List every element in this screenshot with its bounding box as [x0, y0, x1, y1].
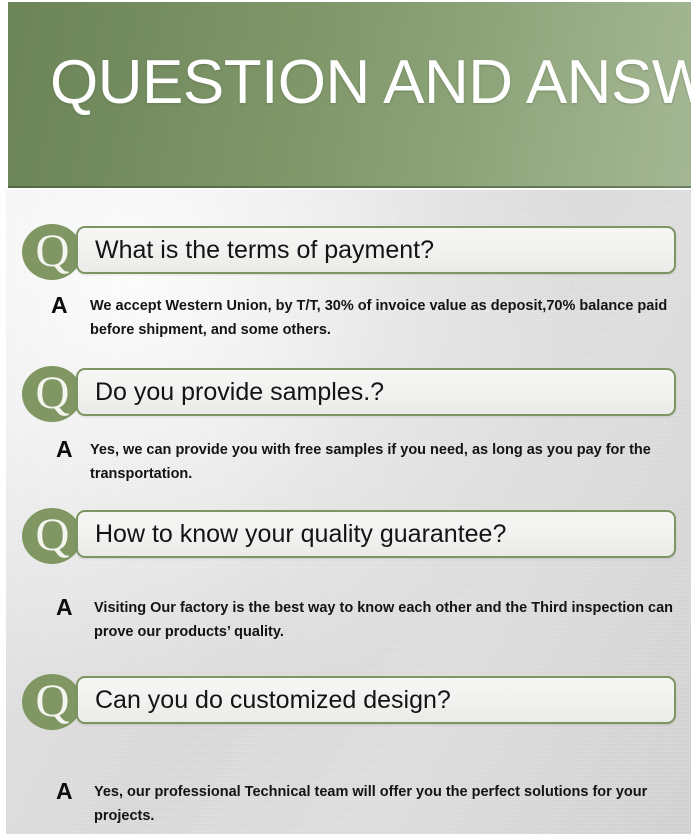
answer-row: A Visiting Our factory is the best way t… [6, 594, 691, 650]
question-marker-label: Q [36, 228, 70, 275]
answer-row: A Yes, we can provide you with free samp… [6, 436, 691, 492]
question-box[interactable]: Can you do customized design? [76, 676, 676, 724]
qa-body-panel: Q What is the terms of payment? A We acc… [6, 190, 691, 834]
qa-item: Q Do you provide samples.? A Yes, we can… [6, 366, 691, 492]
question-marker-label: Q [36, 678, 70, 725]
answer-marker-label: A [56, 436, 73, 462]
answer-row: A We accept Western Union, by T/T, 30% o… [6, 292, 691, 348]
question-badge-icon: Q [22, 508, 82, 564]
question-text: Can you do customized design? [95, 686, 451, 714]
qa-item: Q Can you do customized design? A Yes, o… [6, 674, 691, 834]
question-badge-icon: Q [22, 674, 82, 730]
question-badge-icon: Q [22, 366, 82, 422]
question-text: What is the terms of payment? [95, 236, 434, 264]
page-title: QUESTION AND ANSWER [50, 48, 691, 118]
question-row: Q Do you provide samples.? [6, 366, 691, 422]
question-box[interactable]: Do you provide samples.? [76, 368, 676, 416]
answer-marker-label: A [51, 292, 68, 318]
question-box[interactable]: How to know your quality guarantee? [76, 510, 676, 558]
answer-marker-label: A [56, 778, 73, 804]
question-marker-label: Q [36, 512, 70, 559]
question-row: Q How to know your quality guarantee? [6, 508, 691, 564]
qa-item: Q What is the terms of payment? A We acc… [6, 224, 691, 348]
question-text: Do you provide samples.? [95, 378, 384, 406]
answer-text: Visiting Our factory is the best way to … [94, 596, 690, 644]
question-row: Q What is the terms of payment? [6, 224, 691, 280]
question-text: How to know your quality guarantee? [95, 520, 506, 548]
question-marker-label: Q [36, 370, 70, 417]
answer-text: Yes, our professional Technical team wil… [94, 780, 688, 828]
answer-row: A Yes, our professional Technical team w… [6, 778, 691, 834]
answer-text: We accept Western Union, by T/T, 30% of … [90, 294, 680, 342]
question-badge-icon: Q [22, 224, 82, 280]
qa-slide: QUESTION AND ANSWER Q What is the terms … [0, 0, 691, 834]
qa-item: Q How to know your quality guarantee? A … [6, 508, 691, 650]
header-banner: QUESTION AND ANSWER [8, 2, 691, 188]
question-row: Q Can you do customized design? [6, 674, 691, 730]
answer-marker-label: A [56, 594, 73, 620]
answer-text: Yes, we can provide you with free sample… [90, 438, 686, 486]
question-box[interactable]: What is the terms of payment? [76, 226, 676, 274]
